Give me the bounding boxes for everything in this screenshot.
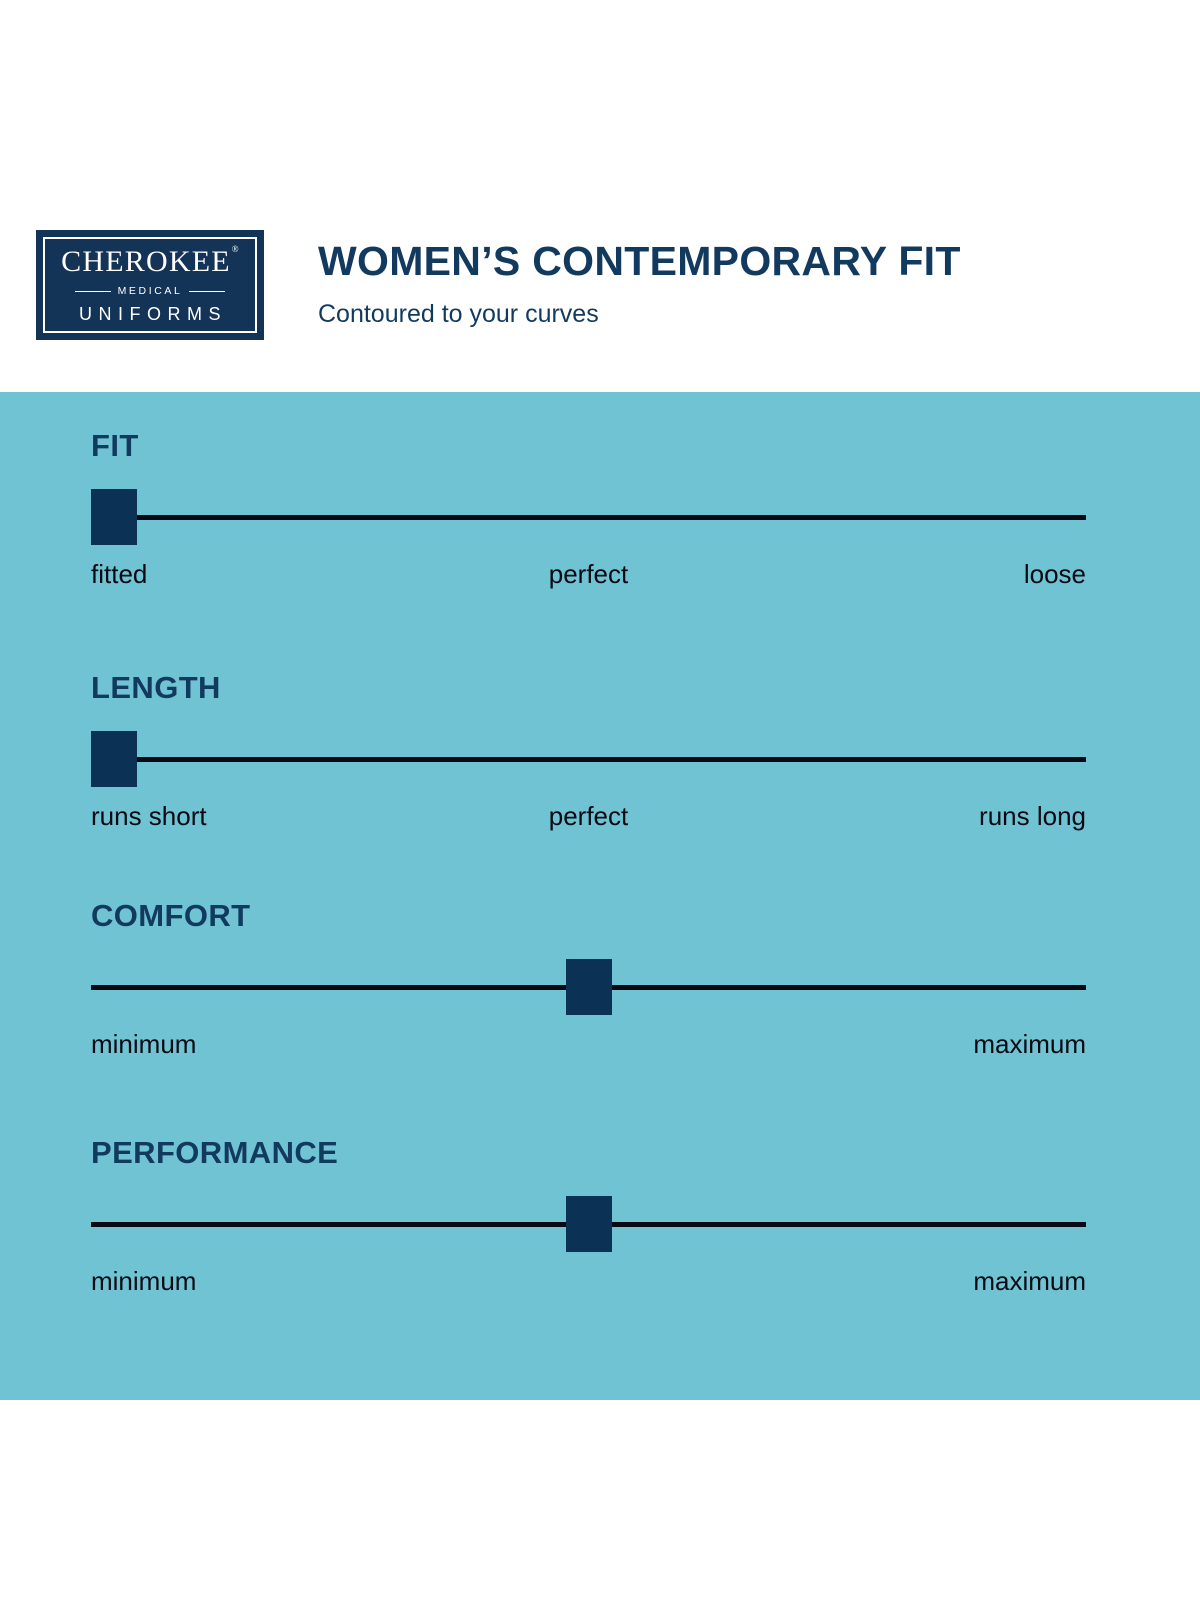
slider-heading-performance: PERFORMANCE [91,1137,1086,1168]
scale-label-right: maximum [973,1266,1086,1297]
logo-brand-text: CHEROKEE [61,245,231,278]
logo-medical-text: MEDICAL [118,286,183,297]
slider-heading-comfort: COMFORT [91,900,1086,931]
scale-label-mid: perfect [549,801,629,832]
scale-label-right: loose [1024,559,1086,590]
registered-trademark-icon: ® [232,244,240,254]
slider-group-length: LENGTH runs short perfect runs long [91,672,1086,835]
slider-heading-length: LENGTH [91,672,1086,703]
slider-group-fit: FIT fitted perfect loose [91,430,1086,593]
cherokee-logo: CHEROKEE® MEDICAL UNIFORMS [36,230,264,340]
scale-label-left: minimum [91,1266,196,1297]
title-block: WOMEN’S CONTEMPORARY FIT Contoured to yo… [318,240,961,329]
logo-rule-left-icon [75,291,111,292]
slider-marker-performance[interactable] [566,1196,612,1252]
track-line [91,515,1086,520]
slider-group-performance: PERFORMANCE minimum maximum [91,1137,1086,1300]
scale-label-left: fitted [91,559,147,590]
fit-guide-page: CHEROKEE® MEDICAL UNIFORMS WOMEN’S CONTE… [0,0,1200,1600]
page-subtitle: Contoured to your curves [318,301,961,329]
scale-labels-fit: fitted perfect loose [91,559,1086,593]
slider-group-comfort: COMFORT minimum maximum [91,900,1086,1063]
scale-label-right: runs long [979,801,1086,832]
page-title: WOMEN’S CONTEMPORARY FIT [318,240,961,283]
scale-label-right: maximum [973,1029,1086,1060]
header-band: CHEROKEE® MEDICAL UNIFORMS WOMEN’S CONTE… [0,0,1200,392]
scale-labels-comfort: minimum maximum [91,1029,1086,1063]
logo-inner-frame: CHEROKEE® MEDICAL UNIFORMS [43,237,257,333]
scale-label-mid: perfect [549,559,629,590]
slider-track-performance[interactable] [91,1196,1086,1252]
slider-heading-fit: FIT [91,430,1086,461]
logo-medical-row: MEDICAL [75,286,225,297]
scale-labels-performance: minimum maximum [91,1266,1086,1300]
logo-brand-name: CHEROKEE® [61,247,239,277]
ratings-panel: FIT fitted perfect loose LENGTH runs sho… [0,392,1200,1400]
slider-track-length[interactable] [91,731,1086,787]
slider-track-comfort[interactable] [91,959,1086,1015]
slider-marker-fit[interactable] [91,489,137,545]
scale-label-left: runs short [91,801,207,832]
slider-marker-comfort[interactable] [566,959,612,1015]
logo-rule-right-icon [189,291,225,292]
slider-track-fit[interactable] [91,489,1086,545]
track-line [91,757,1086,762]
slider-marker-length[interactable] [91,731,137,787]
scale-label-left: minimum [91,1029,196,1060]
scale-labels-length: runs short perfect runs long [91,801,1086,835]
logo-uniforms-text: UNIFORMS [73,305,227,323]
